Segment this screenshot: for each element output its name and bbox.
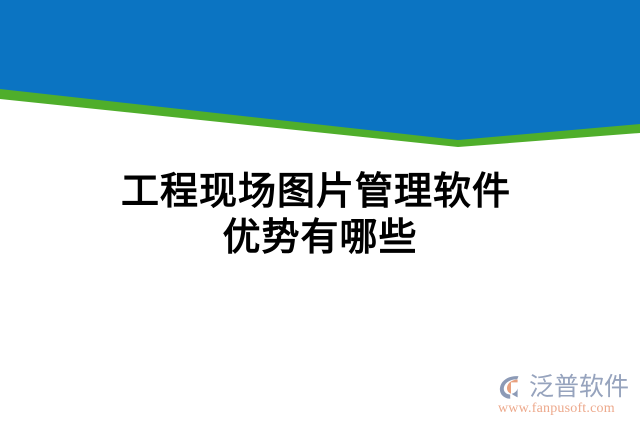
- page-title-line-2: 优势有哪些: [40, 214, 600, 260]
- page-title-line-1: 工程现场图片管理软件: [40, 168, 600, 214]
- fanpu-swirl-logo-icon: [496, 372, 526, 402]
- brand-name: 泛普软件: [529, 373, 629, 401]
- banner-green-shape: [0, 0, 640, 147]
- slide-canvas: 工程现场图片管理软件 优势有哪些 泛普软件 www.fanpusoft.com: [0, 0, 640, 427]
- page-title: 工程现场图片管理软件 优势有哪些: [0, 168, 640, 260]
- brand-watermark-row: 泛普软件: [496, 370, 632, 403]
- brand-watermark: 泛普软件 www.fanpusoft.com: [496, 370, 632, 417]
- banner-blue-shape: [0, 0, 640, 140]
- chevron-banner: [0, 0, 640, 160]
- brand-url: www.fanpusoft.com: [496, 401, 632, 417]
